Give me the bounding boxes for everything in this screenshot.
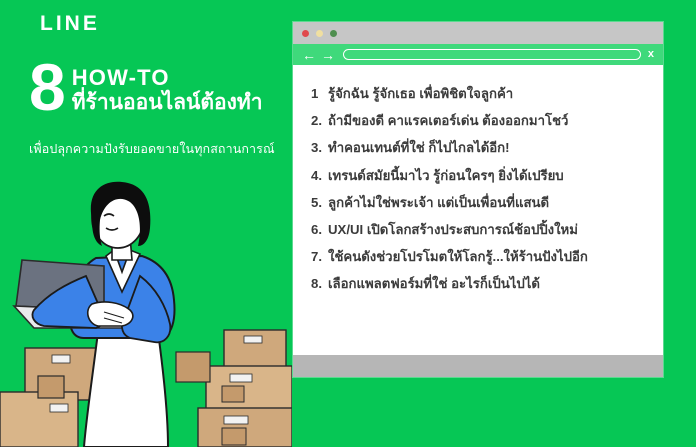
list-item-text: เทรนด์สมัยนี้มาไว รู้ก่อนใครๆ ยิ่งได้เปร… [328,169,651,182]
list-item-text: UX/UI เปิดโลกสร้างประสบการณ์ช้อปปิ้งใหม่ [328,223,651,236]
list-item-number: 5. [311,196,328,209]
infographic-canvas: LINE 8 HOW-TO ที่ร้านออนไลน์ต้องทำ เพื่อ… [0,0,696,447]
list-item-number: 3. [311,141,328,154]
cardboard-boxes-right [176,330,292,447]
window-maximize-dot[interactable] [330,30,337,37]
headline-howto: HOW-TO [72,66,263,89]
list-item-text: ถ้ามีของดี คาแรคเตอร์เด่น ต้องออกมาโชว์ [328,114,651,127]
forward-arrow-icon[interactable]: → [321,48,335,62]
list-item-text: เลือกแพลตฟอร์มที่ใช่ อะไรก็เป็นไปได้ [328,277,651,290]
browser-content: 1 รู้จักฉัน รู้จักเธอ เพื่อพิชิตใจลูกค้า… [293,65,663,355]
list-item: 8. เลือกแพลตฟอร์มที่ใช่ อะไรก็เป็นไปได้ [311,277,651,304]
list-item-number: 7. [311,250,328,263]
close-icon[interactable]: x [648,49,656,60]
browser-window: ← → x 1 รู้จักฉัน รู้จักเธอ เพื่อพิชิตใจ… [293,22,663,377]
line-logo: LINE [40,13,100,34]
browser-statusbar [293,355,663,377]
back-arrow-icon[interactable]: ← [302,48,316,62]
list-item-number: 6. [311,223,328,236]
address-bar-input[interactable] [343,49,641,60]
list-item: 3. ทำคอนเทนต์ที่ใช่ ก็ไปไกลได้อีก! [311,141,651,168]
browser-toolbar: ← → x [293,44,663,65]
cardboard-boxes-left [0,348,97,447]
headline-subtitle: เพื่อปลุกความปังรับยอดขายในทุกสถานการณ์ [29,139,275,159]
list-item-number: 8. [311,277,328,290]
list-item-text: ลูกค้าไม่ใช่พระเจ้า แต่เป็นเพื่อนที่แสนด… [328,196,651,209]
list-item: 7. ใช้คนดังช่วยโปรโมตให้โลกรู้...ให้ร้าน… [311,250,651,277]
browser-titlebar [293,22,663,44]
window-close-dot[interactable] [302,30,309,37]
window-minimize-dot[interactable] [316,30,323,37]
list-item-number: 2. [311,114,328,127]
list-item: 1 รู้จักฉัน รู้จักเธอ เพื่อพิชิตใจลูกค้า [311,87,651,114]
list-item-number: 1 [311,87,328,100]
list-item: 6. UX/UI เปิดโลกสร้างประสบการณ์ช้อปปิ้งใ… [311,223,651,250]
list-item: 4. เทรนด์สมัยนี้มาไว รู้ก่อนใครๆ ยิ่งได้… [311,169,651,196]
headline-number: 8 [29,62,64,113]
list-item-number: 4. [311,169,328,182]
list-item: 5. ลูกค้าไม่ใช่พระเจ้า แต่เป็นเพื่อนที่แ… [311,196,651,223]
tips-list: 1 รู้จักฉัน รู้จักเธอ เพื่อพิชิตใจลูกค้า… [293,87,663,305]
headline-block: 8 HOW-TO ที่ร้านออนไลน์ต้องทำ [29,62,291,115]
headline-thai: ที่ร้านออนไลน์ต้องทำ [72,90,263,115]
list-item-text: ใช้คนดังช่วยโปรโมตให้โลกรู้...ให้ร้านปัง… [328,250,651,263]
illustration-woman-with-laptop [0,180,292,447]
list-item-text: ทำคอนเทนต์ที่ใช่ ก็ไปไกลได้อีก! [328,141,651,154]
figure-skirt [84,332,168,447]
list-item: 2. ถ้ามีของดี คาแรคเตอร์เด่น ต้องออกมาโช… [311,114,651,141]
list-item-text: รู้จักฉัน รู้จักเธอ เพื่อพิชิตใจลูกค้า [328,87,651,100]
